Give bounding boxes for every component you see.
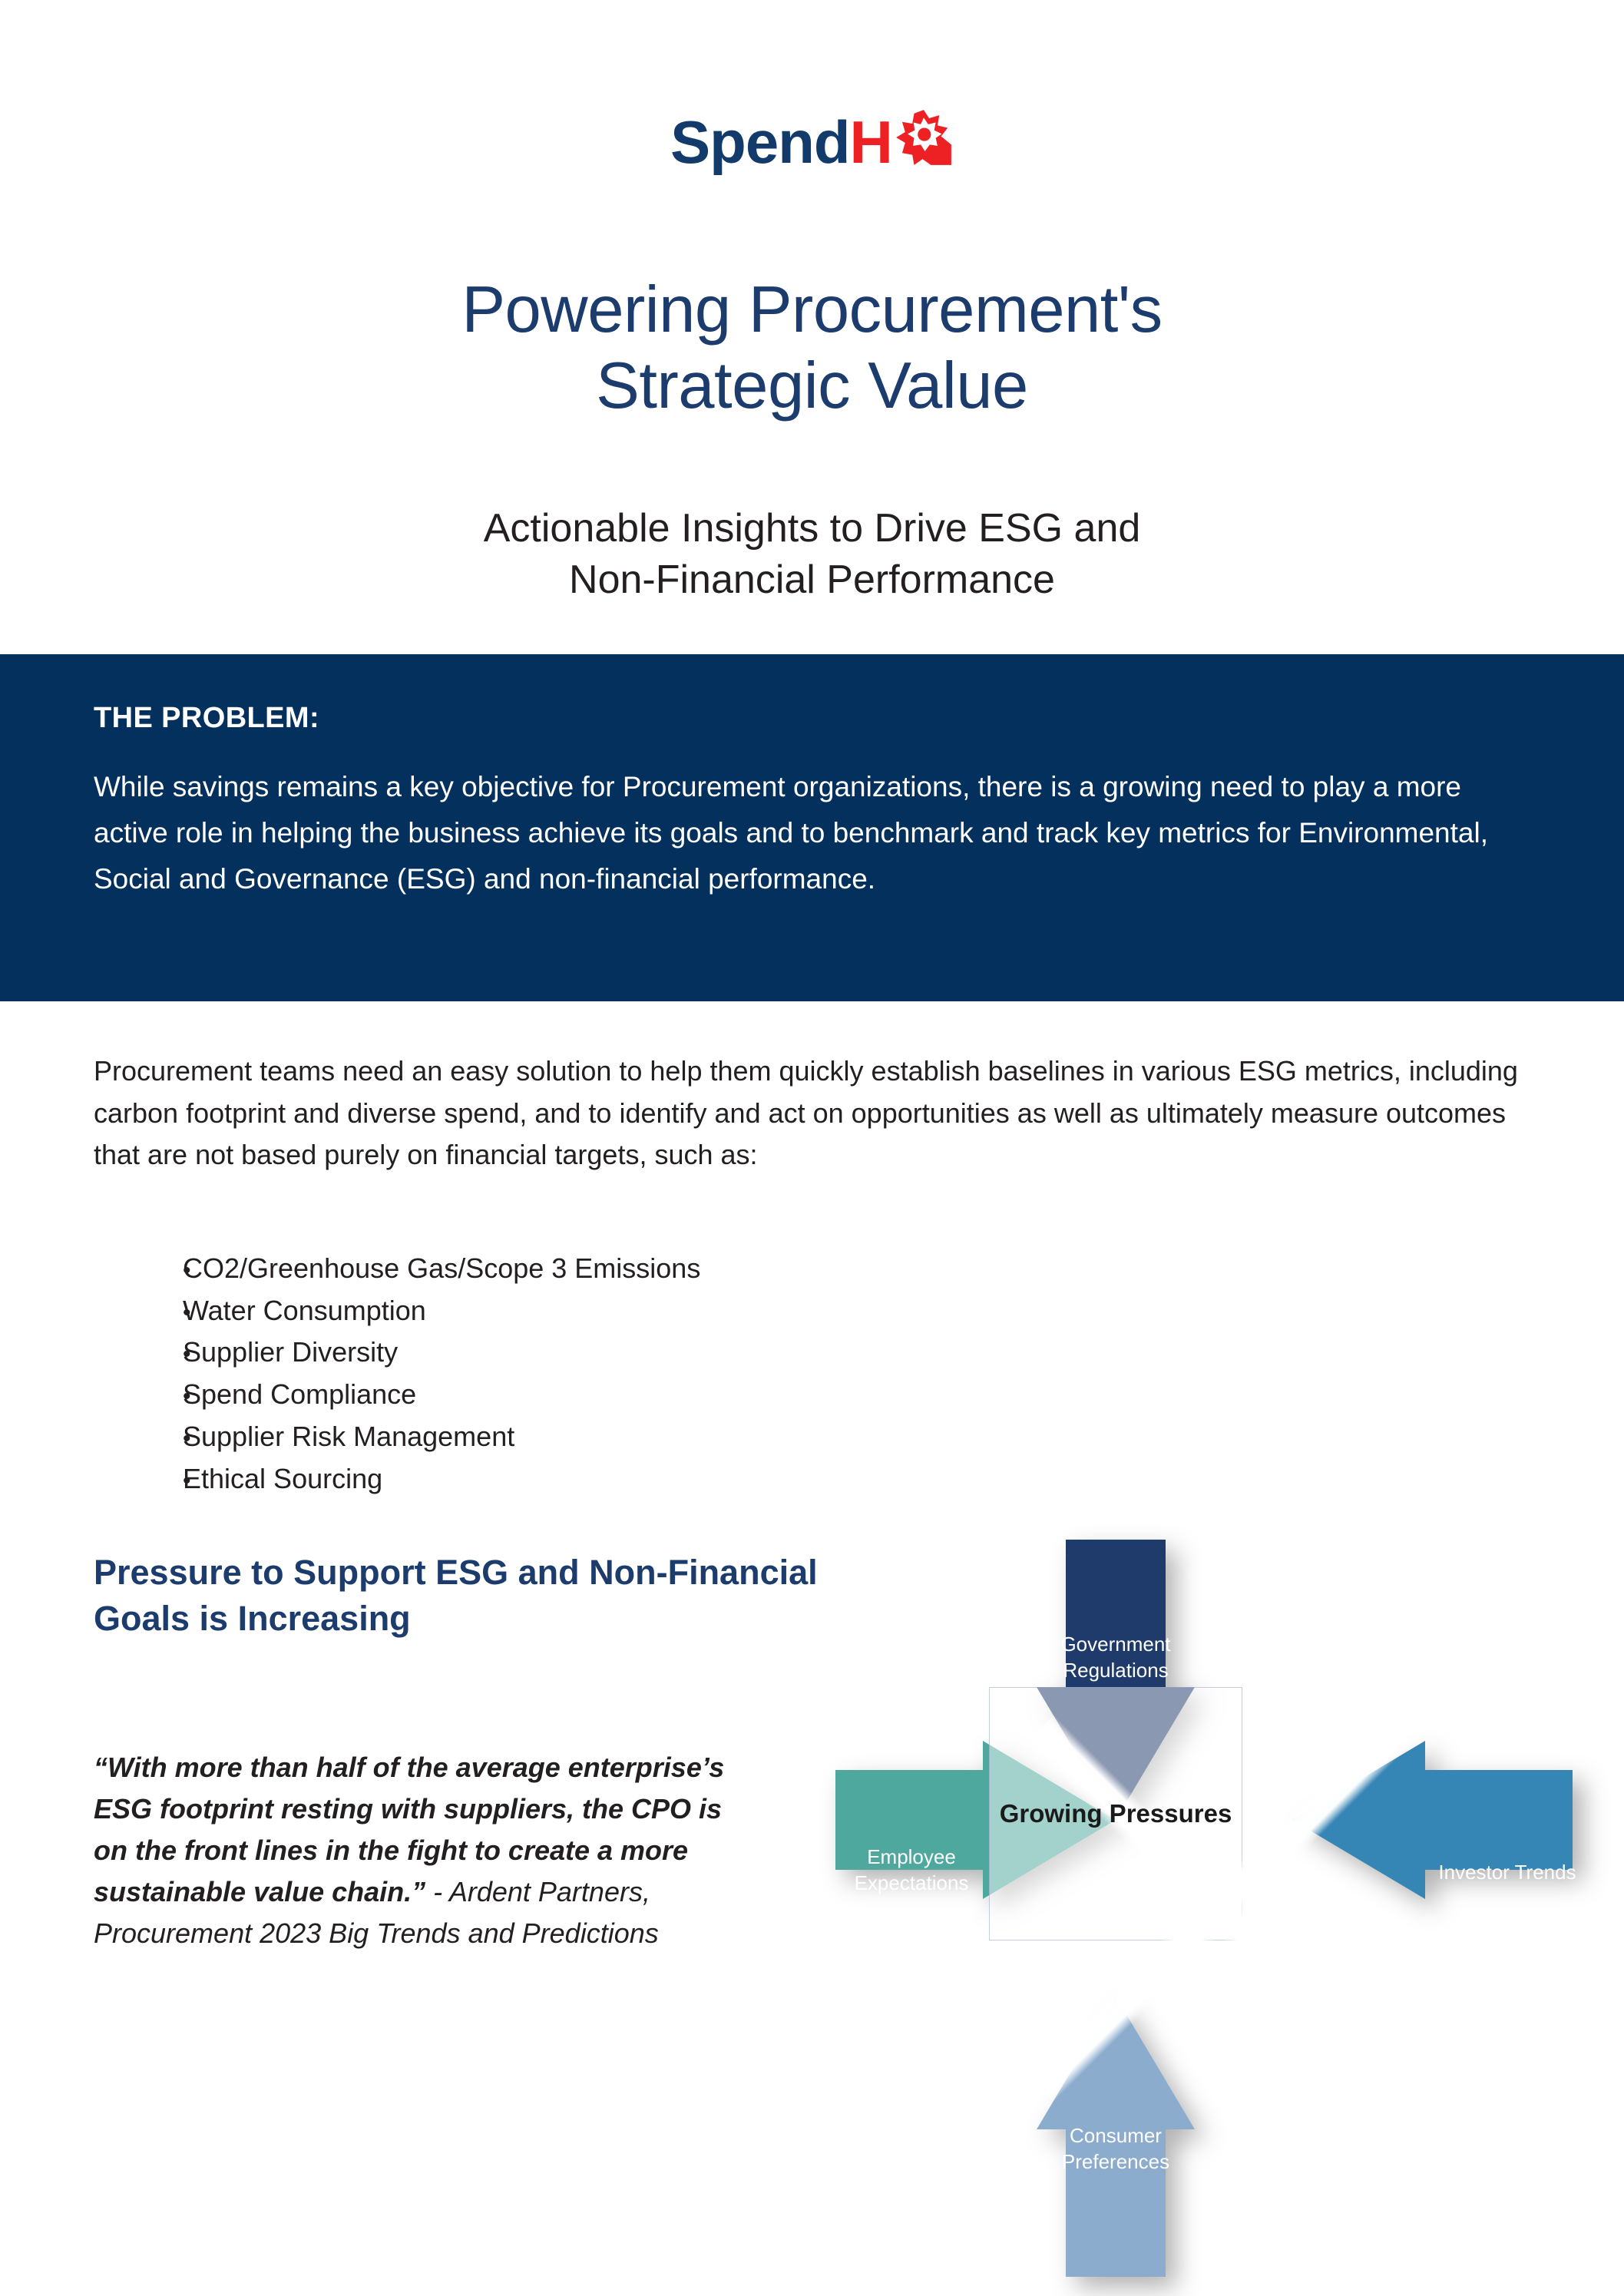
problem-banner: THE PROBLEM: While savings remains a key…	[0, 654, 1624, 1001]
bullet-icon: •	[94, 1253, 183, 1289]
list-item: • Supplier Risk Management	[94, 1416, 1169, 1458]
growing-pressures-diagram: Government Regulations Consumer Preferen…	[835, 1540, 1603, 2277]
page-title: Powering Procurement's Strategic Value	[0, 273, 1624, 424]
page-title-line-2: Strategic Value	[596, 349, 1028, 422]
list-item: • Ethical Sourcing	[94, 1458, 1169, 1500]
page-subtitle-line-1: Actionable Insights to Drive ESG and	[484, 506, 1141, 551]
list-item-label: Spend Compliance	[183, 1374, 416, 1416]
list-item-label: Supplier Risk Management	[183, 1416, 514, 1458]
page-title-line-1: Powering Procurement's	[461, 273, 1162, 346]
page-subtitle-line-2: Non-Financial Performance	[569, 557, 1055, 602]
list-item: • CO2/Greenhouse Gas/Scope 3 Emissions	[94, 1248, 1169, 1290]
bullet-icon: •	[94, 1295, 183, 1331]
logo-text-spend: Spend	[670, 112, 849, 172]
list-item: • Spend Compliance	[94, 1374, 1169, 1416]
intro-paragraph: Procurement teams need an easy solution …	[94, 1050, 1537, 1176]
section-heading-line-1: Pressure to Support ESG and Non-Financia…	[94, 1553, 818, 1592]
list-item: • Water Consumption	[94, 1290, 1169, 1332]
pull-quote: “With more than half of the average ente…	[94, 1747, 731, 1954]
brand-logo: SpendH	[0, 108, 1624, 177]
section-heading-line-2: Goals is Increasing	[94, 1599, 411, 1638]
list-item-label: Water Consumption	[183, 1290, 426, 1332]
bullet-icon: •	[94, 1379, 183, 1414]
logo-lockup: SpendH	[670, 108, 954, 177]
esg-metrics-list: • CO2/Greenhouse Gas/Scope 3 Emissions •…	[94, 1248, 1169, 1500]
problem-body: While savings remains a key objective fo…	[94, 764, 1530, 902]
document-page: SpendH Powering Procurement's Strategic …	[0, 0, 1624, 2296]
list-item-label: CO2/Greenhouse Gas/Scope 3 Emissions	[183, 1248, 700, 1290]
page-subtitle: Actionable Insights to Drive ESG and Non…	[0, 503, 1624, 605]
target-gear-icon	[894, 108, 954, 177]
list-item: • Supplier Diversity	[94, 1332, 1169, 1374]
list-item-label: Ethical Sourcing	[183, 1458, 382, 1500]
problem-label: THE PROBLEM:	[94, 702, 1530, 735]
bullet-icon: •	[94, 1464, 183, 1499]
list-item-label: Supplier Diversity	[183, 1332, 398, 1374]
bullet-icon: •	[94, 1337, 183, 1372]
logo-text-h: H	[850, 112, 892, 172]
section-heading: Pressure to Support ESG and Non-Financia…	[94, 1550, 961, 1642]
bullet-icon: •	[94, 1421, 183, 1457]
